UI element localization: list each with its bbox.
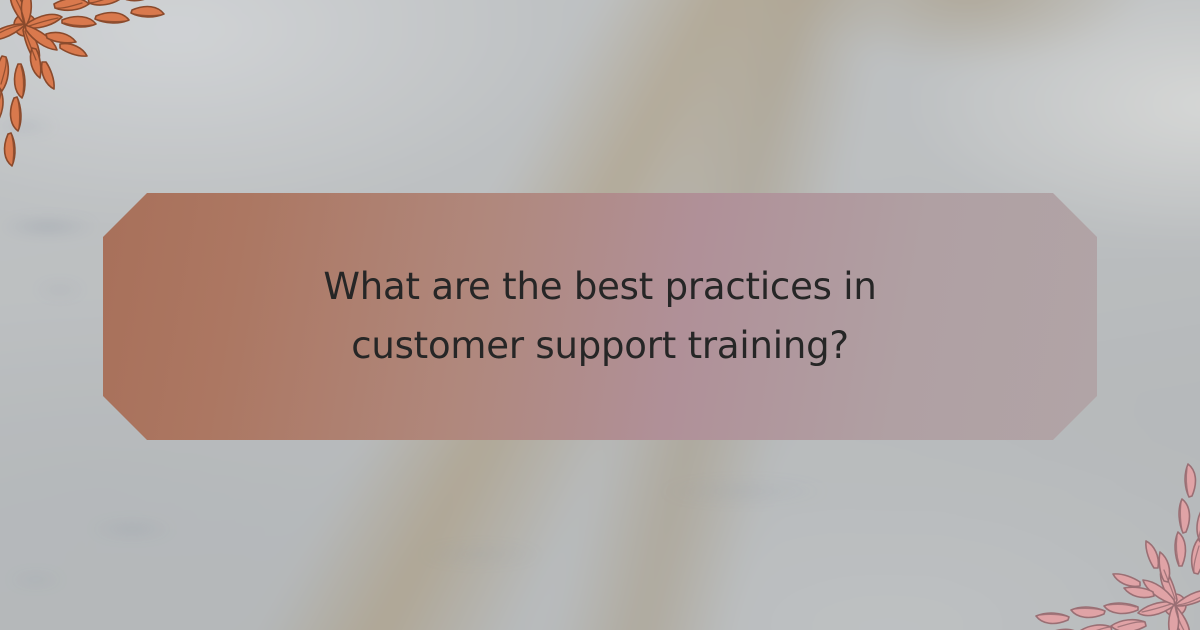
question-card: What are the best practices in customer … (103, 193, 1097, 440)
question-text: What are the best practices in customer … (240, 258, 960, 375)
question-card-graphic: What are the best practices in customer … (0, 0, 1200, 630)
